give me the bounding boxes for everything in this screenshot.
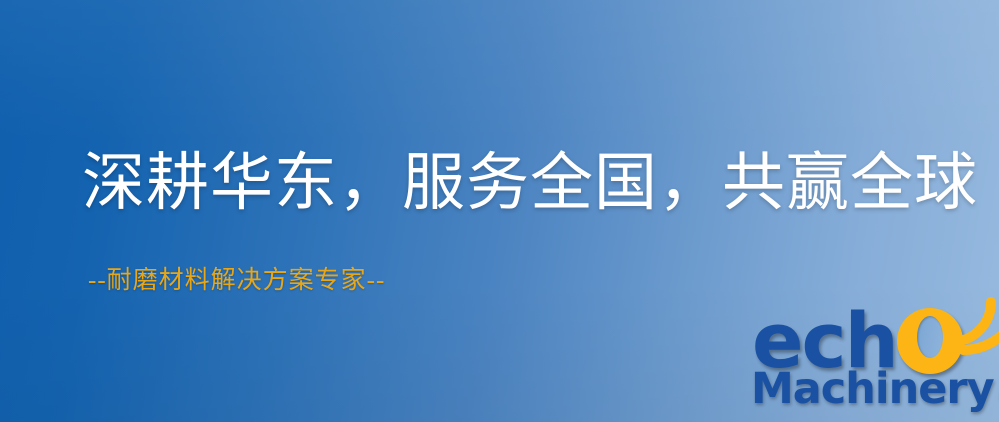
logo-o-counter [917,316,943,358]
logo-o-letter-group [897,292,969,370]
logo-wordmark-ech: ech [752,311,897,370]
logo-wordmark-row: ech [752,292,969,370]
banner-headline: 深耕华东，服务全国，共赢全球 [82,152,978,215]
signal-waves-icon [945,288,999,358]
logo-company-row: Machinery ® [751,368,999,411]
promotional-banner: 深耕华东，服务全国，共赢全球 --耐磨材料解决方案专家-- ech Machin… [0,0,999,422]
logo-company-name: Machinery [751,368,994,411]
echo-machinery-logo: ech Machinery ® [748,292,999,422]
banner-subheadline: --耐磨材料解决方案专家-- [88,268,385,293]
